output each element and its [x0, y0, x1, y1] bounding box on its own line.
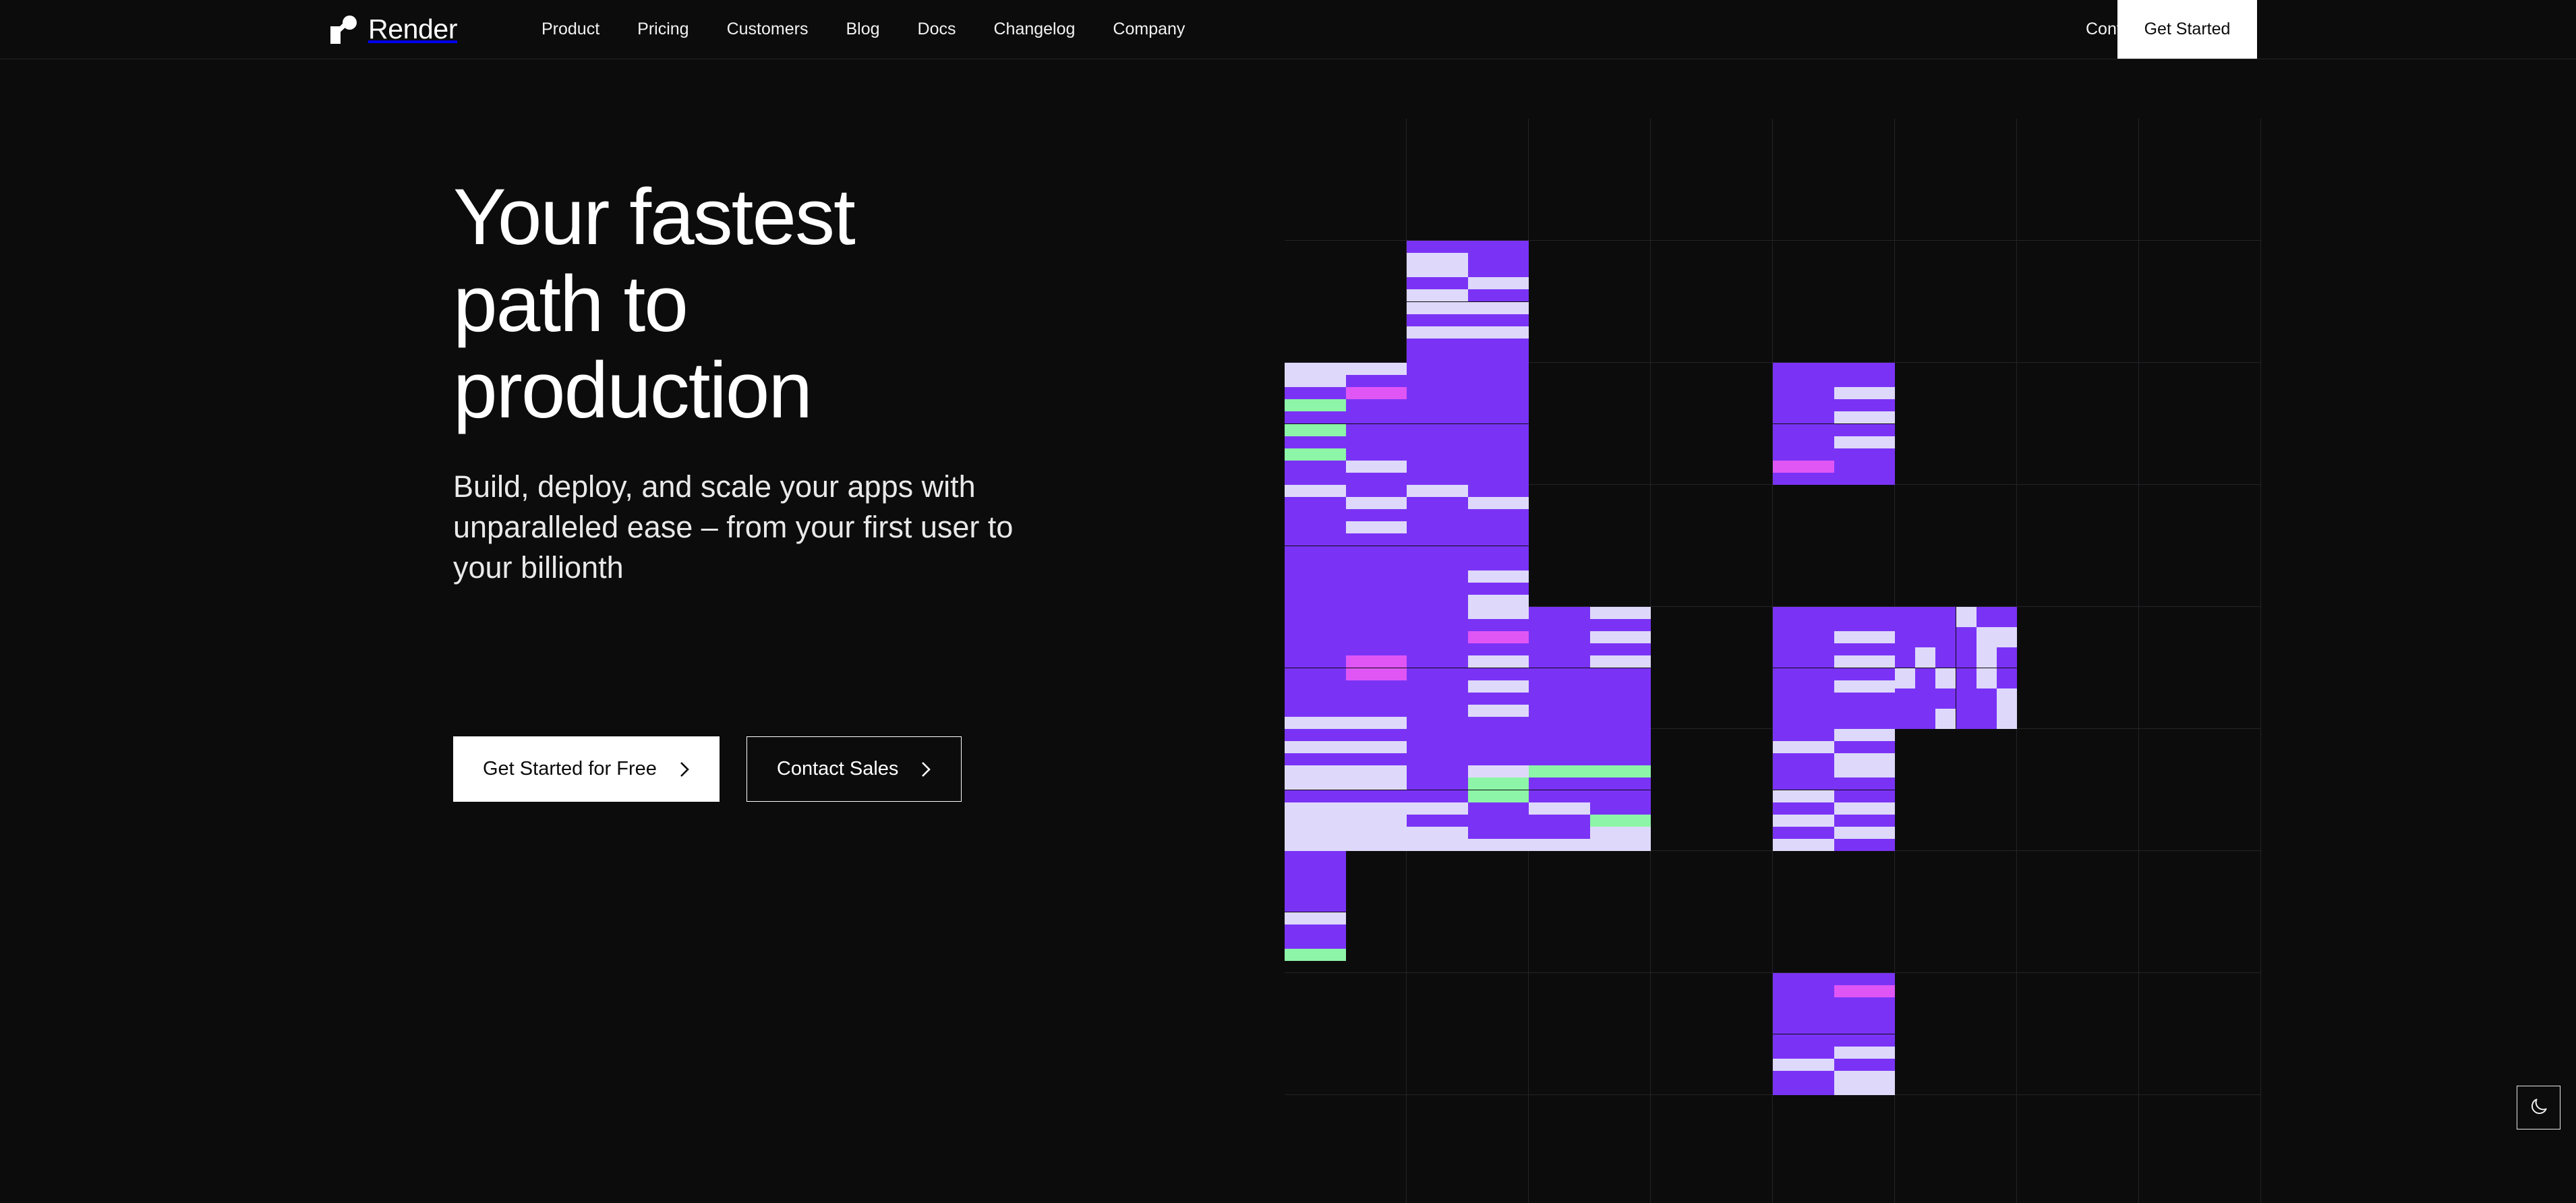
grid-cell [1529, 485, 1651, 607]
pixel-block [1407, 729, 1468, 741]
pixel-block [1834, 705, 1896, 717]
pixel-block [1407, 253, 1468, 265]
pixel-block [1468, 668, 1529, 680]
pixel-block [1834, 973, 1896, 985]
pixel-block [1468, 302, 1529, 314]
pixel-block [1935, 607, 1956, 627]
grid-cell [1895, 851, 2017, 973]
nav-link-docs[interactable]: Docs [899, 0, 975, 59]
pixel-block [1285, 875, 1346, 887]
pixel-block [1773, 448, 1834, 461]
grid-cell [1895, 119, 2017, 241]
pixel-block [1285, 619, 1346, 631]
nav-link-product[interactable]: Product [523, 0, 618, 59]
nav-link-company[interactable]: Company [1094, 0, 1204, 59]
pixel-block [1346, 424, 1407, 436]
grid-cell [2139, 607, 2261, 729]
pixel-block [1468, 558, 1529, 570]
pixel-block [1590, 790, 1651, 802]
pixel-block [1285, 607, 1346, 619]
pixel-block [1529, 802, 1590, 815]
pixel-block [1285, 424, 1346, 436]
pixel-block [1346, 729, 1407, 741]
pixel-block [1346, 509, 1407, 521]
pixel-block [1834, 1034, 1896, 1047]
grid-cell [1773, 241, 1895, 363]
pixel-block [1895, 668, 1915, 688]
pixel-block [1346, 558, 1407, 570]
pixel-block [1285, 839, 1346, 851]
nav-link-pricing[interactable]: Pricing [618, 0, 707, 59]
pixel-block [1346, 595, 1407, 607]
pixel-block [1935, 688, 1956, 709]
pixel-block [1997, 709, 2017, 729]
pixel-block [1468, 765, 1529, 777]
pixel-block [1468, 839, 1529, 851]
pixel-block [1407, 680, 1468, 693]
grid-cell [1407, 119, 1529, 241]
pixel-block [1468, 399, 1529, 411]
pixel-block [1468, 570, 1529, 583]
grid-cell [1773, 119, 1895, 241]
pixel-block [1529, 680, 1590, 693]
pixel-block [1407, 790, 1468, 802]
brand-name: Render [368, 16, 457, 43]
pixel-block [1773, 1083, 1834, 1095]
pixel-block [1834, 1083, 1896, 1095]
pixel-block [1407, 509, 1468, 521]
pixel-block [1285, 546, 1346, 558]
grid-cell [2017, 241, 2139, 363]
page-title: Your fastest path to production [453, 174, 1128, 434]
pixel-block [1285, 631, 1346, 643]
grid-cell [2139, 485, 2261, 607]
pixel-block [1285, 570, 1346, 583]
contact-sales-button[interactable]: Contact Sales [747, 736, 962, 802]
pixel-block [1346, 655, 1407, 668]
pixel-block [1407, 473, 1468, 485]
pixel-block [1346, 741, 1407, 753]
pixel-block [1407, 351, 1468, 363]
pixel-block [1346, 497, 1407, 509]
pixel-block [1834, 411, 1896, 423]
pixel-block [1468, 729, 1529, 741]
pixel-block [1407, 777, 1468, 790]
pixel-block [1935, 627, 1956, 647]
pixel-block [1956, 709, 1977, 729]
pixel-block [1468, 375, 1529, 387]
pixel-block [1590, 643, 1651, 655]
pixel-block [1468, 693, 1529, 705]
pixel-block [1590, 655, 1651, 668]
pixel-block [1895, 647, 1915, 668]
pixel-block [1407, 583, 1468, 595]
pixel-block [1834, 607, 1896, 619]
pixel-block [1834, 717, 1896, 729]
pixel-block [1346, 473, 1407, 485]
pixel-block [1773, 619, 1834, 631]
pixel-block [1346, 387, 1407, 399]
pixel-block [1407, 546, 1468, 558]
pixel-block [1773, 1022, 1834, 1034]
pixel-block [1285, 411, 1346, 423]
pixel-block [1407, 827, 1468, 839]
pixel-block [1834, 387, 1896, 399]
grid-cell [1895, 241, 2017, 363]
pixel-block [1529, 815, 1590, 827]
pixel-block [1468, 363, 1529, 375]
pixel-block [1285, 937, 1346, 949]
pixel-block [1773, 1009, 1834, 1022]
pixel-block [1407, 693, 1468, 705]
nav-link-changelog[interactable]: Changelog [974, 0, 1094, 59]
pixel-block [1468, 314, 1529, 326]
pixel-block [1407, 643, 1468, 655]
nav-get-started-button[interactable]: Get Started [2117, 0, 2257, 59]
pixel-block [1407, 595, 1468, 607]
pixel-block [1468, 777, 1529, 790]
pixel-block [1285, 399, 1346, 411]
pixel-block [1468, 497, 1529, 509]
pixel-block [1915, 627, 1935, 647]
get-started-for-free-label: Get Started for Free [483, 758, 657, 780]
pixel-block [1407, 558, 1468, 570]
pixel-block [1773, 790, 1834, 802]
pixel-block [1407, 655, 1468, 668]
pixel-block [1407, 399, 1468, 411]
pixel-block [1346, 827, 1407, 839]
pixel-block [1285, 375, 1346, 387]
pixel-block [1285, 583, 1346, 595]
pixel-block [1285, 485, 1346, 497]
pixel-block [1407, 497, 1468, 509]
pixel-block [1834, 436, 1896, 448]
grid-cell [2017, 851, 2139, 973]
pixel-block [1915, 668, 1935, 688]
pixel-block [1285, 729, 1346, 741]
pixel-block [1834, 375, 1896, 387]
pixel-block [1915, 647, 1935, 668]
pixel-block [1590, 839, 1651, 851]
grid-cell [1529, 119, 1651, 241]
pixel-block [1285, 790, 1346, 802]
pixel-block [1346, 570, 1407, 583]
pixel-block [1407, 375, 1468, 387]
pixel-block [1590, 777, 1651, 790]
pixel-block [1407, 241, 1468, 253]
pixel-block [1773, 802, 1834, 815]
get-started-for-free-button[interactable]: Get Started for Free [453, 736, 720, 802]
render-logo-mark-icon [330, 16, 357, 44]
pixel-block [1529, 790, 1590, 802]
pixel-block [1529, 655, 1590, 668]
pixel-block [1773, 815, 1834, 827]
pixel-block [1773, 741, 1834, 753]
pixel-block [1529, 729, 1590, 741]
pixel-block [1834, 765, 1896, 777]
grid-cell [1773, 851, 1895, 973]
nav-link-customers[interactable]: Customers [708, 0, 827, 59]
pixel-block [1468, 753, 1529, 765]
pixel-block [1773, 827, 1834, 839]
pixel-block [1468, 705, 1529, 717]
pixel-block [1590, 753, 1651, 765]
pixel-block [1977, 627, 1997, 647]
pixel-block [1468, 619, 1529, 631]
pixel-block [1468, 473, 1529, 485]
brand-logo-link[interactable]: Render [330, 0, 457, 59]
pixel-block [1590, 802, 1651, 815]
grid-cell [1407, 973, 1529, 1095]
pixel-block [1407, 570, 1468, 583]
pixel-block [1834, 399, 1896, 411]
pixel-block [1468, 815, 1529, 827]
grid-cell [2139, 363, 2261, 485]
pixel-block [1834, 631, 1896, 643]
pixel-block [1834, 839, 1896, 851]
pixel-block [1529, 741, 1590, 753]
pixel-block [1346, 717, 1407, 729]
pixel-block [1529, 705, 1590, 717]
pixel-block [1468, 741, 1529, 753]
grid-cell [1285, 241, 1407, 363]
pixel-block [1834, 815, 1896, 827]
pixel-block [1468, 521, 1529, 533]
pixel-block [1468, 326, 1529, 339]
pixel-block [1468, 277, 1529, 289]
grid-cell [2017, 607, 2139, 729]
pixel-block [1346, 399, 1407, 411]
pixel-block [1834, 1047, 1896, 1059]
pixel-block [1346, 790, 1407, 802]
pixel-block [1346, 680, 1407, 693]
pixel-block [1935, 668, 1956, 688]
pixel-block [1773, 473, 1834, 485]
pixel-block [1773, 643, 1834, 655]
pixel-block [1346, 631, 1407, 643]
pixel-block [1407, 753, 1468, 765]
pixel-block [1346, 411, 1407, 423]
pixel-block [1468, 387, 1529, 399]
pixel-block [1285, 521, 1346, 533]
grid-cell [1651, 363, 1773, 485]
chevron-right-icon [921, 761, 931, 777]
pixel-block [1773, 631, 1834, 643]
pixel-block [1529, 839, 1590, 851]
pixel-block [1468, 643, 1529, 655]
pixel-block [1285, 815, 1346, 827]
pixel-block [1834, 680, 1896, 693]
pixel-block [1773, 839, 1834, 851]
pixel-block [1529, 643, 1590, 655]
pixel-block [1834, 1022, 1896, 1034]
dark-mode-toggle-button[interactable] [2517, 1086, 2560, 1129]
pixel-block [1935, 709, 1956, 729]
grid-cell [2017, 485, 2139, 607]
pixel-block [1346, 753, 1407, 765]
pixel-block [1468, 411, 1529, 423]
pixel-block [1407, 461, 1468, 473]
pixel-block [1407, 314, 1468, 326]
pixel-block [1407, 339, 1468, 351]
pixel-block [1834, 753, 1896, 765]
grid-cell [2017, 973, 2139, 1095]
grid-cell [1529, 973, 1651, 1095]
pixel-block [1285, 900, 1346, 912]
pixel-block [1773, 424, 1834, 436]
pixel-block [1834, 997, 1896, 1009]
grid-cell [2017, 119, 2139, 241]
pixel-block [1773, 668, 1834, 680]
pixel-block [1773, 693, 1834, 705]
pixel-block [1468, 802, 1529, 815]
pixel-block [1590, 607, 1651, 619]
pixel-block [1285, 533, 1346, 546]
pixel-block [1773, 973, 1834, 985]
pixel-block [1590, 619, 1651, 631]
pixel-block [1468, 436, 1529, 448]
pixel-block [1346, 375, 1407, 387]
pixel-block [1590, 693, 1651, 705]
pixel-block [1407, 815, 1468, 827]
pixel-block [1346, 461, 1407, 473]
pixel-block [1529, 619, 1590, 631]
pixel-block [1773, 729, 1834, 741]
pixel-block [1346, 448, 1407, 461]
pixel-block [1834, 424, 1896, 436]
pixel-block [1468, 339, 1529, 351]
grid-cell [1651, 241, 1773, 363]
pixel-block [1407, 765, 1468, 777]
pixel-block [1407, 411, 1468, 423]
pixel-block [1590, 705, 1651, 717]
pixel-block [1285, 705, 1346, 717]
grid-cell [2139, 119, 2261, 241]
pixel-block [1895, 607, 1915, 627]
pixel-block [1285, 655, 1346, 668]
pixel-block [1956, 607, 1977, 627]
pixel-block [1529, 765, 1590, 777]
pixel-block [1935, 647, 1956, 668]
pixel-block [1977, 668, 1997, 688]
pixel-block [1529, 631, 1590, 643]
pixel-block [1773, 436, 1834, 448]
pixel-block [1529, 607, 1590, 619]
pixel-block [1407, 717, 1468, 729]
grid-cell [1895, 973, 2017, 1095]
pixel-block [1346, 607, 1407, 619]
grid-cell [1651, 973, 1773, 1095]
pixel-block [1915, 709, 1935, 729]
grid-cell [1895, 363, 2017, 485]
pixel-block [1346, 643, 1407, 655]
pixel-block [1590, 680, 1651, 693]
pixel-block [1468, 655, 1529, 668]
pixel-block [1977, 709, 1997, 729]
pixel-block [1407, 705, 1468, 717]
grid-cell [1529, 1095, 1651, 1203]
pixel-block [1997, 668, 2017, 688]
pixel-block [1915, 607, 1935, 627]
pixel-block [1834, 729, 1896, 741]
pixel-block [1977, 607, 1997, 627]
pixel-block [1956, 627, 1977, 647]
grid-cell [1529, 851, 1651, 973]
pixel-block [1773, 705, 1834, 717]
grid-cell [1895, 485, 2017, 607]
pixel-block [1773, 1059, 1834, 1071]
pixel-block [1834, 668, 1896, 680]
grid-cell [2139, 1095, 2261, 1203]
pixel-block [1590, 741, 1651, 753]
pixel-block [1407, 424, 1468, 436]
grid-cell [1529, 241, 1651, 363]
grid-cell [2017, 363, 2139, 485]
pixel-block [1346, 802, 1407, 815]
pixel-block [1529, 668, 1590, 680]
pixel-block [1285, 851, 1346, 863]
pixel-block [1285, 925, 1346, 937]
pixel-block [1346, 583, 1407, 595]
pixel-block [1834, 985, 1896, 997]
pixel-block [1977, 688, 1997, 709]
pixel-block [1407, 326, 1468, 339]
hero-subtitle: Build, deploy, and scale your apps with … [453, 467, 1033, 588]
pixel-block [1468, 289, 1529, 301]
pixel-block [1997, 688, 2017, 709]
grid-cell [1651, 607, 1773, 729]
pixel-block [1773, 1034, 1834, 1047]
pixel-block [1346, 815, 1407, 827]
pixel-block [1407, 265, 1468, 277]
pixel-block [1285, 717, 1346, 729]
pixel-block [1773, 717, 1834, 729]
pixel-block [1468, 827, 1529, 839]
pixel-block [1834, 777, 1896, 790]
nav-link-blog[interactable]: Blog [827, 0, 898, 59]
pixel-block [1285, 461, 1346, 473]
pixel-block [1529, 753, 1590, 765]
pixel-block [1468, 533, 1529, 546]
pixel-block [1773, 363, 1834, 375]
pixel-block [1529, 717, 1590, 729]
pixel-block [1956, 688, 1977, 709]
pixel-block [1834, 693, 1896, 705]
pixel-block [1773, 411, 1834, 423]
pixel-block [1834, 473, 1896, 485]
grid-cell [1407, 1095, 1529, 1203]
pixel-block [1529, 827, 1590, 839]
hero-section: Your fastest path to production Build, d… [0, 59, 2576, 1144]
pixel-block [1468, 485, 1529, 497]
pixel-block [1590, 729, 1651, 741]
grid-cell [1773, 485, 1895, 607]
pixel-block [1977, 647, 1997, 668]
pixel-block [1590, 765, 1651, 777]
pixel-block [1285, 741, 1346, 753]
pixel-block [1285, 448, 1346, 461]
pixel-block [1468, 241, 1529, 253]
pixel-block [1773, 985, 1834, 997]
pixel-block [1407, 363, 1468, 375]
pixel-block [1285, 558, 1346, 570]
pixel-block [1285, 949, 1346, 961]
hero-cta-row: Get Started for Free Contact Sales [453, 736, 962, 802]
pixel-block [1834, 619, 1896, 631]
pixel-block [1285, 765, 1346, 777]
pixel-block [1773, 997, 1834, 1009]
pixel-block [1834, 655, 1896, 668]
